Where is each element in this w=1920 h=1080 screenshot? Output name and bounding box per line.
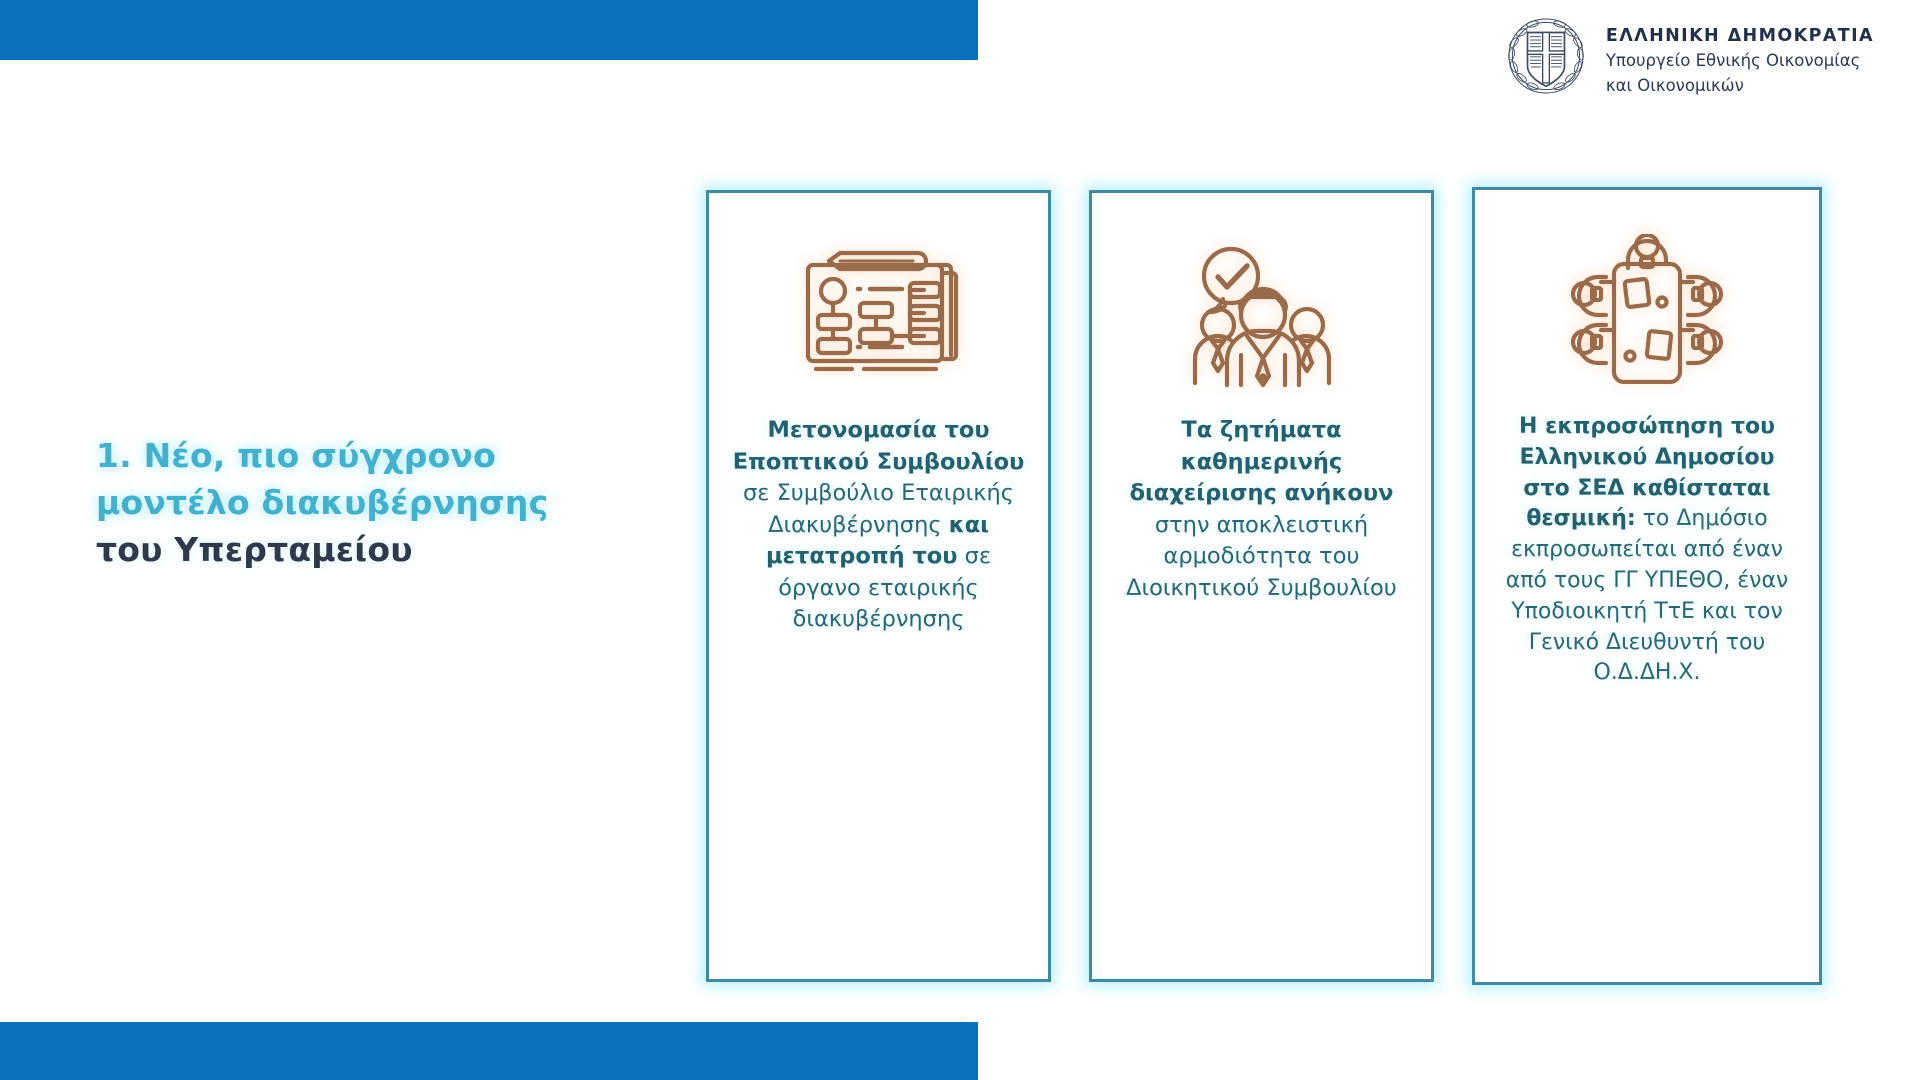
card-row: Μετονομασία του Εποπτικού Συμβουλίου σε … (706, 190, 1822, 985)
hellenic-republic-coat-of-arms-icon (1504, 14, 1588, 98)
info-card-1-text: Μετονομασία του Εποπτικού Συμβουλίου σε … (725, 415, 1032, 636)
info-card-3-regular-1: το Δημόσιο εκπροσωπείται από έναν από το… (1506, 506, 1789, 685)
info-card-2-regular-1: στην αποκλειστική αρμοδιότητα του Διοικη… (1126, 512, 1397, 601)
info-card-3[interactable]: Η εκπροσώπηση του Ελληνικού Δημοσίου στο… (1472, 187, 1822, 985)
decorative-blue-bar-bottom (0, 1022, 978, 1080)
org-chart-board-icon (794, 237, 964, 387)
decorative-blue-bar-top (0, 0, 978, 60)
brand-subtitle-line1: Υπουργείο Εθνικής Οικονομίας (1606, 50, 1874, 72)
page-title-teal-part: 1. Νέο, πιο σύγχρονο μοντέλο διακυβέρνησ… (96, 436, 548, 522)
brand-lockup: ΕΛΛΗΝΙΚΗ ΔΗΜΟΚΡΑΤΙΑ Υπουργείο Εθνικής Οι… (1504, 14, 1874, 98)
brand-subtitle-line2: και Οικονομικών (1606, 75, 1874, 97)
info-card-2-bold-1: Τα ζητήματα καθημερινής διαχείρισης ανήκ… (1130, 417, 1394, 506)
info-card-3-text: Η εκπροσώπηση του Ελληνικού Δημοσίου στο… (1491, 412, 1803, 689)
page-title: 1. Νέο, πιο σύγχρονο μοντέλο διακυβέρνησ… (96, 432, 566, 574)
info-card-1[interactable]: Μετονομασία του Εποπτικού Συμβουλίου σε … (706, 190, 1051, 982)
boardroom-meeting-table-icon (1562, 234, 1732, 384)
brand-title: ΕΛΛΗΝΙΚΗ ΔΗΜΟΚΡΑΤΙΑ (1606, 26, 1874, 47)
page-title-dark-part: του Υπερταμείου (96, 530, 413, 569)
business-team-approved-icon (1177, 237, 1347, 387)
info-card-2[interactable]: Τα ζητήματα καθημερινής διαχείρισης ανήκ… (1089, 190, 1434, 982)
info-card-1-bold-1: Μετονομασία του Εποπτικού Συμβουλίου (733, 417, 1025, 475)
info-card-2-text: Τα ζητήματα καθημερινής διαχείρισης ανήκ… (1108, 415, 1415, 604)
